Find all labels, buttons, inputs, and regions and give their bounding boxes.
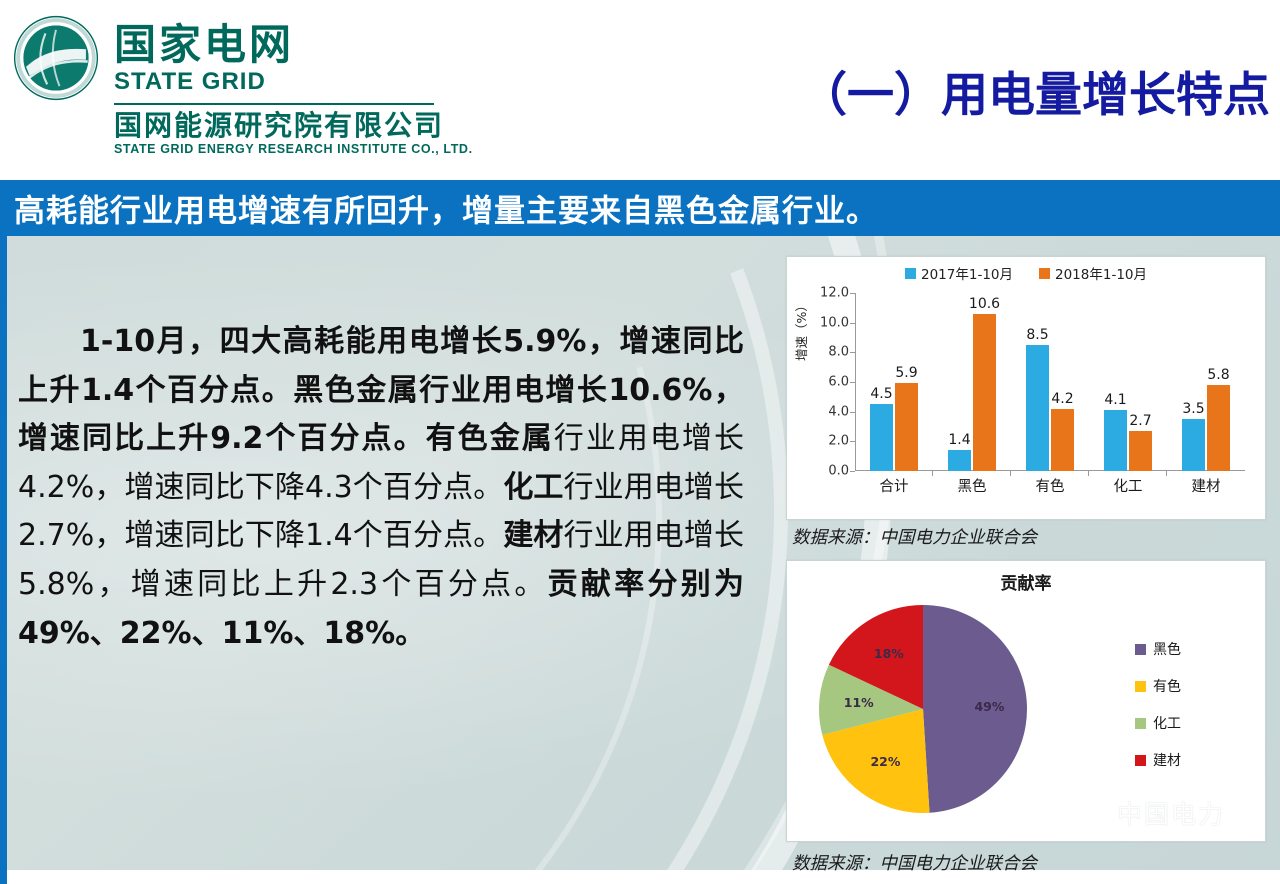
bar-value-label: 8.5 <box>1026 327 1048 343</box>
bar-chart-legend: 2017年1-10月2018年1-10月 <box>787 263 1265 283</box>
bar-1: 2.7 <box>1129 431 1152 471</box>
y-tick-label: 12.0 <box>820 286 849 301</box>
bar-value-label: 10.6 <box>969 296 1000 312</box>
pie-chart-legend: 黑色有色化工建材 <box>1135 639 1181 770</box>
legend-swatch-icon <box>1135 681 1146 692</box>
pie-legend-item-3: 建材 <box>1135 750 1181 770</box>
bar-value-label: 4.1 <box>1104 392 1126 408</box>
state-grid-globe-icon <box>12 14 100 102</box>
x-category-label: 合计 <box>855 475 933 496</box>
legend-swatch-icon <box>1135 718 1146 729</box>
bar-1: 5.9 <box>895 383 918 471</box>
x-category-label: 化工 <box>1089 475 1167 496</box>
wechat-watermark: 中国电力 <box>1075 795 1225 831</box>
legend-label: 黑色 <box>1153 639 1181 659</box>
pie-legend-item-1: 有色 <box>1135 676 1181 696</box>
bar-value-label: 5.9 <box>895 365 917 381</box>
bar-1: 4.2 <box>1051 409 1074 471</box>
bar-legend-item-0: 2017年1-10月 <box>905 263 1013 283</box>
state-grid-logo: 国家电网 STATE GRID 国网能源研究院有限公司 STATE GRID E… <box>12 10 473 156</box>
bar-group: 1.410.6 <box>933 293 1011 471</box>
legend-swatch-icon <box>905 268 916 279</box>
bar-0: 1.4 <box>948 450 971 471</box>
paragraph-segment-4: 建材 <box>503 518 563 553</box>
y-tick-label: 2.0 <box>828 434 849 449</box>
body-paragraph: 1-10月，四大高耗能用电增长5.9%，增速同比上升1.4个百分点。黑色金属行业… <box>18 318 744 658</box>
bar-0: 4.1 <box>1104 410 1127 471</box>
y-tick-label: 8.0 <box>828 345 849 360</box>
logo-company-en: STATE GRID <box>114 68 473 96</box>
paragraph-segment-2: 化工 <box>503 470 563 505</box>
slide: 国家电网 STATE GRID 国网能源研究院有限公司 STATE GRID E… <box>0 0 1280 884</box>
legend-label: 建材 <box>1153 750 1181 770</box>
pie-value-label: 22% <box>870 754 900 769</box>
bar-legend-item-1: 2018年1-10月 <box>1039 263 1147 283</box>
wechat-icon <box>1075 798 1109 828</box>
pie-value-label: 49% <box>974 699 1004 714</box>
x-category-label: 有色 <box>1011 475 1089 496</box>
bar-0: 3.5 <box>1182 419 1205 471</box>
bar-chart-source-note: 数据来源：中国电力企业联合会 <box>792 524 1037 549</box>
section-banner-text: 高耗能行业用电增速有所回升，增量主要来自黑色金属行业。 <box>14 186 878 231</box>
bar-value-label: 4.5 <box>870 386 892 402</box>
legend-swatch-icon <box>1039 268 1050 279</box>
bar-value-label: 5.8 <box>1207 367 1229 383</box>
slide-title: （一）用电量增长特点 <box>800 56 1270 125</box>
bar-value-label: 4.2 <box>1051 391 1073 407</box>
legend-swatch-icon <box>1135 644 1146 655</box>
bar-group: 8.54.2 <box>1011 293 1089 471</box>
bar-0: 8.5 <box>1026 345 1049 471</box>
y-tick-label: 10.0 <box>820 315 849 330</box>
logo-divider <box>114 103 434 105</box>
legend-label: 化工 <box>1153 713 1181 733</box>
slide-header: 国家电网 STATE GRID 国网能源研究院有限公司 STATE GRID E… <box>0 0 1280 160</box>
pie-legend-item-0: 黑色 <box>1135 639 1181 659</box>
bar-chart-y-axis-label: 增速（%） <box>791 299 810 361</box>
bar-group: 4.55.9 <box>855 293 933 471</box>
logo-institute-cn: 国网能源研究院有限公司 <box>114 111 473 140</box>
watermark-text: 中国电力 <box>1117 795 1225 831</box>
section-banner: 高耗能行业用电增速有所回升，增量主要来自黑色金属行业。 <box>0 180 1280 236</box>
bar-chart-plot-area: 0.02.04.06.08.010.012.0 4.55.91.410.68.5… <box>855 293 1245 471</box>
logo-company-cn: 国家电网 <box>114 24 473 66</box>
bar-group: 4.12.7 <box>1089 293 1167 471</box>
x-category-label: 黑色 <box>933 475 1011 496</box>
pie-chart-source-note: 数据来源：中国电力企业联合会 <box>792 850 1037 875</box>
legend-label: 2017年1-10月 <box>921 263 1013 283</box>
bar-chart-bar-groups: 4.55.91.410.68.54.24.12.73.55.8 <box>855 293 1245 471</box>
bar-value-label: 2.7 <box>1129 413 1151 429</box>
logo-institute-en: STATE GRID ENERGY RESEARCH INSTITUTE CO.… <box>114 142 473 156</box>
bar-value-label: 3.5 <box>1182 401 1204 417</box>
pie-value-label: 11% <box>844 695 874 710</box>
legend-swatch-icon <box>1135 755 1146 766</box>
legend-label: 2018年1-10月 <box>1055 263 1147 283</box>
pie-chart-graphic: 49%22%11%18% <box>817 603 1029 815</box>
pie-legend-item-2: 化工 <box>1135 713 1181 733</box>
legend-label: 有色 <box>1153 676 1181 696</box>
bottom-white-strip <box>0 870 1280 884</box>
y-tick-label: 4.0 <box>828 404 849 419</box>
y-tick-mark <box>850 471 855 472</box>
y-tick-label: 0.0 <box>828 464 849 479</box>
bar-1: 10.6 <box>973 314 996 471</box>
bar-0: 4.5 <box>870 404 893 471</box>
y-tick-label: 6.0 <box>828 375 849 390</box>
left-accent-bar <box>0 236 7 884</box>
pie-chart-title: 贡献率 <box>787 569 1265 594</box>
pie-value-label: 18% <box>874 646 904 661</box>
bar-chart-category-labels: 合计黑色有色化工建材 <box>855 475 1245 496</box>
bar-1: 5.8 <box>1207 385 1230 471</box>
x-category-label: 建材 <box>1167 475 1245 496</box>
bar-value-label: 1.4 <box>948 432 970 448</box>
bar-chart-panel: 2017年1-10月2018年1-10月 增速（%） 0.02.04.06.08… <box>786 256 1266 520</box>
bar-group: 3.55.8 <box>1167 293 1245 471</box>
